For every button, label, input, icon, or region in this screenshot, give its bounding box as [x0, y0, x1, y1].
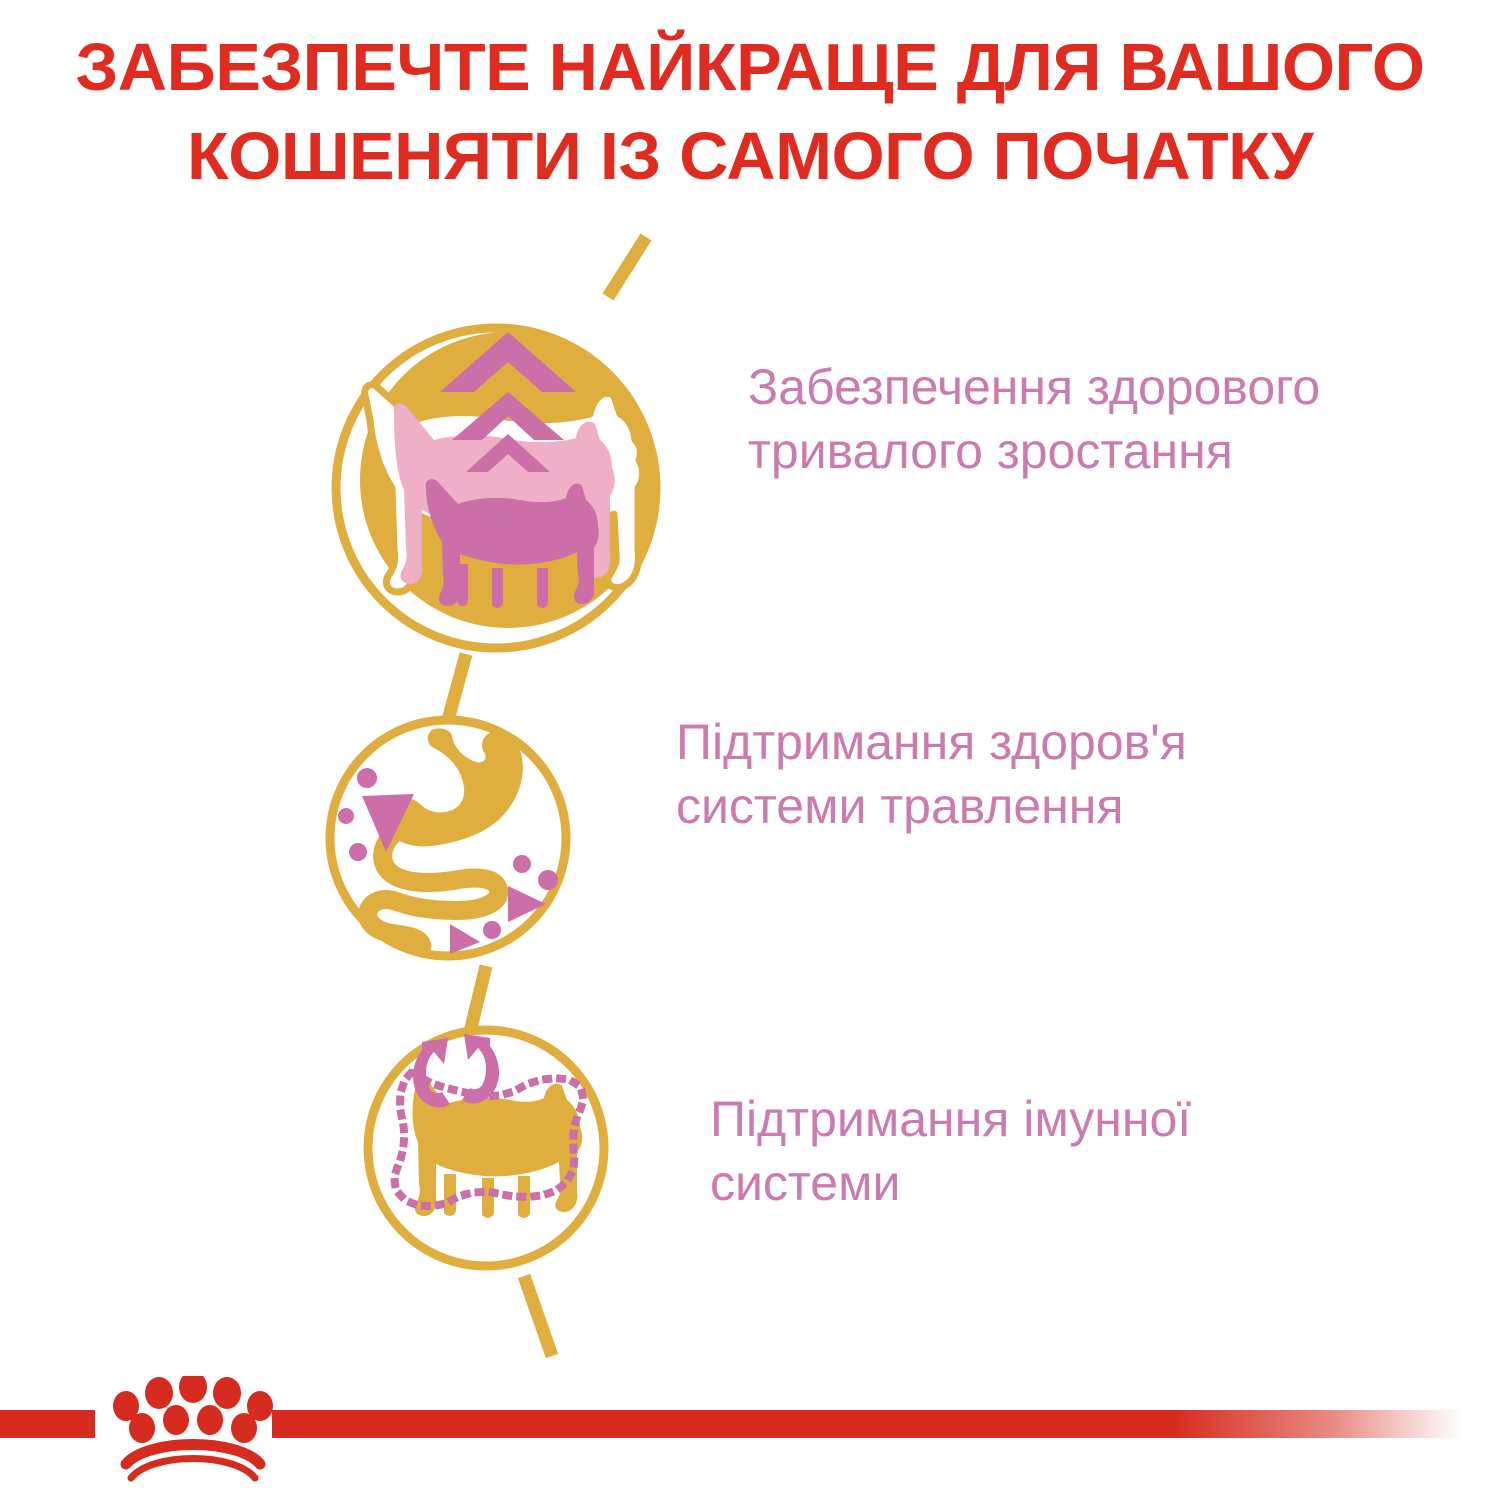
benefit-label-growth: Забезпечення здорового тривалого зростан…: [748, 355, 1478, 483]
footer-bar-left-segment: [0, 1410, 95, 1438]
page-title-line-1: ЗАБЕЗПЕЧТЕ НАЙКРАЩЕ ДЛЯ ВАШОГО: [0, 34, 1500, 101]
infographic-page: ЗАБЕЗПЕЧТЕ НАЙКРАЩЕ ДЛЯ ВАШОГО КОШЕНЯТИ …: [0, 0, 1500, 1500]
page-title-line-2: КОШЕНЯТИ ІЗ САМОГО ПОЧАТКУ: [0, 123, 1500, 190]
benefit-label-immunity: Підтримання імунної системи: [710, 1087, 1330, 1215]
connector-dash-bottom: [510, 1270, 580, 1365]
kitten-growth-stages-icon: [318, 292, 698, 672]
royal-canin-crown-logo: [104, 1376, 282, 1484]
immune-system-protected-kitten-icon: [360, 1022, 612, 1274]
page-title: ЗАБЕЗПЕЧТЕ НАЙКРАЩЕ ДЛЯ ВАШОГО КОШЕНЯТИ …: [0, 34, 1500, 190]
footer-bar-right-segment: [272, 1410, 1500, 1438]
digestive-system-stomach-intestine-icon: [322, 712, 574, 964]
benefit-label-digestive: Підтримання здоров'я системи травлення: [676, 710, 1316, 838]
